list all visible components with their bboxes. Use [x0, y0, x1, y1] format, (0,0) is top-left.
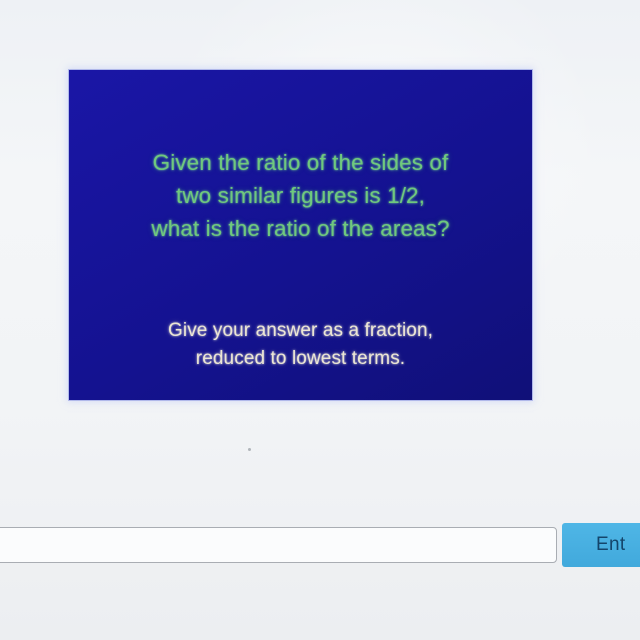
question-line-1: Given the ratio of the sides of — [83, 146, 518, 179]
question-text: Given the ratio of the sides of two simi… — [69, 146, 532, 245]
answer-row: Ent — [0, 523, 640, 569]
instruction-text: Give your answer as a fraction, reduced … — [69, 317, 532, 373]
screen-dust-speck — [248, 448, 251, 451]
question-panel: Given the ratio of the sides of two simi… — [69, 70, 532, 400]
answer-input[interactable] — [0, 527, 557, 563]
question-line-3: what is the ratio of the areas? — [83, 212, 518, 245]
instruction-line-1: Give your answer as a fraction, — [83, 317, 518, 345]
instruction-line-2: reduced to lowest terms. — [83, 345, 518, 373]
question-line-2: two similar figures is 1/2, — [83, 179, 518, 212]
enter-button[interactable]: Ent — [562, 523, 640, 567]
